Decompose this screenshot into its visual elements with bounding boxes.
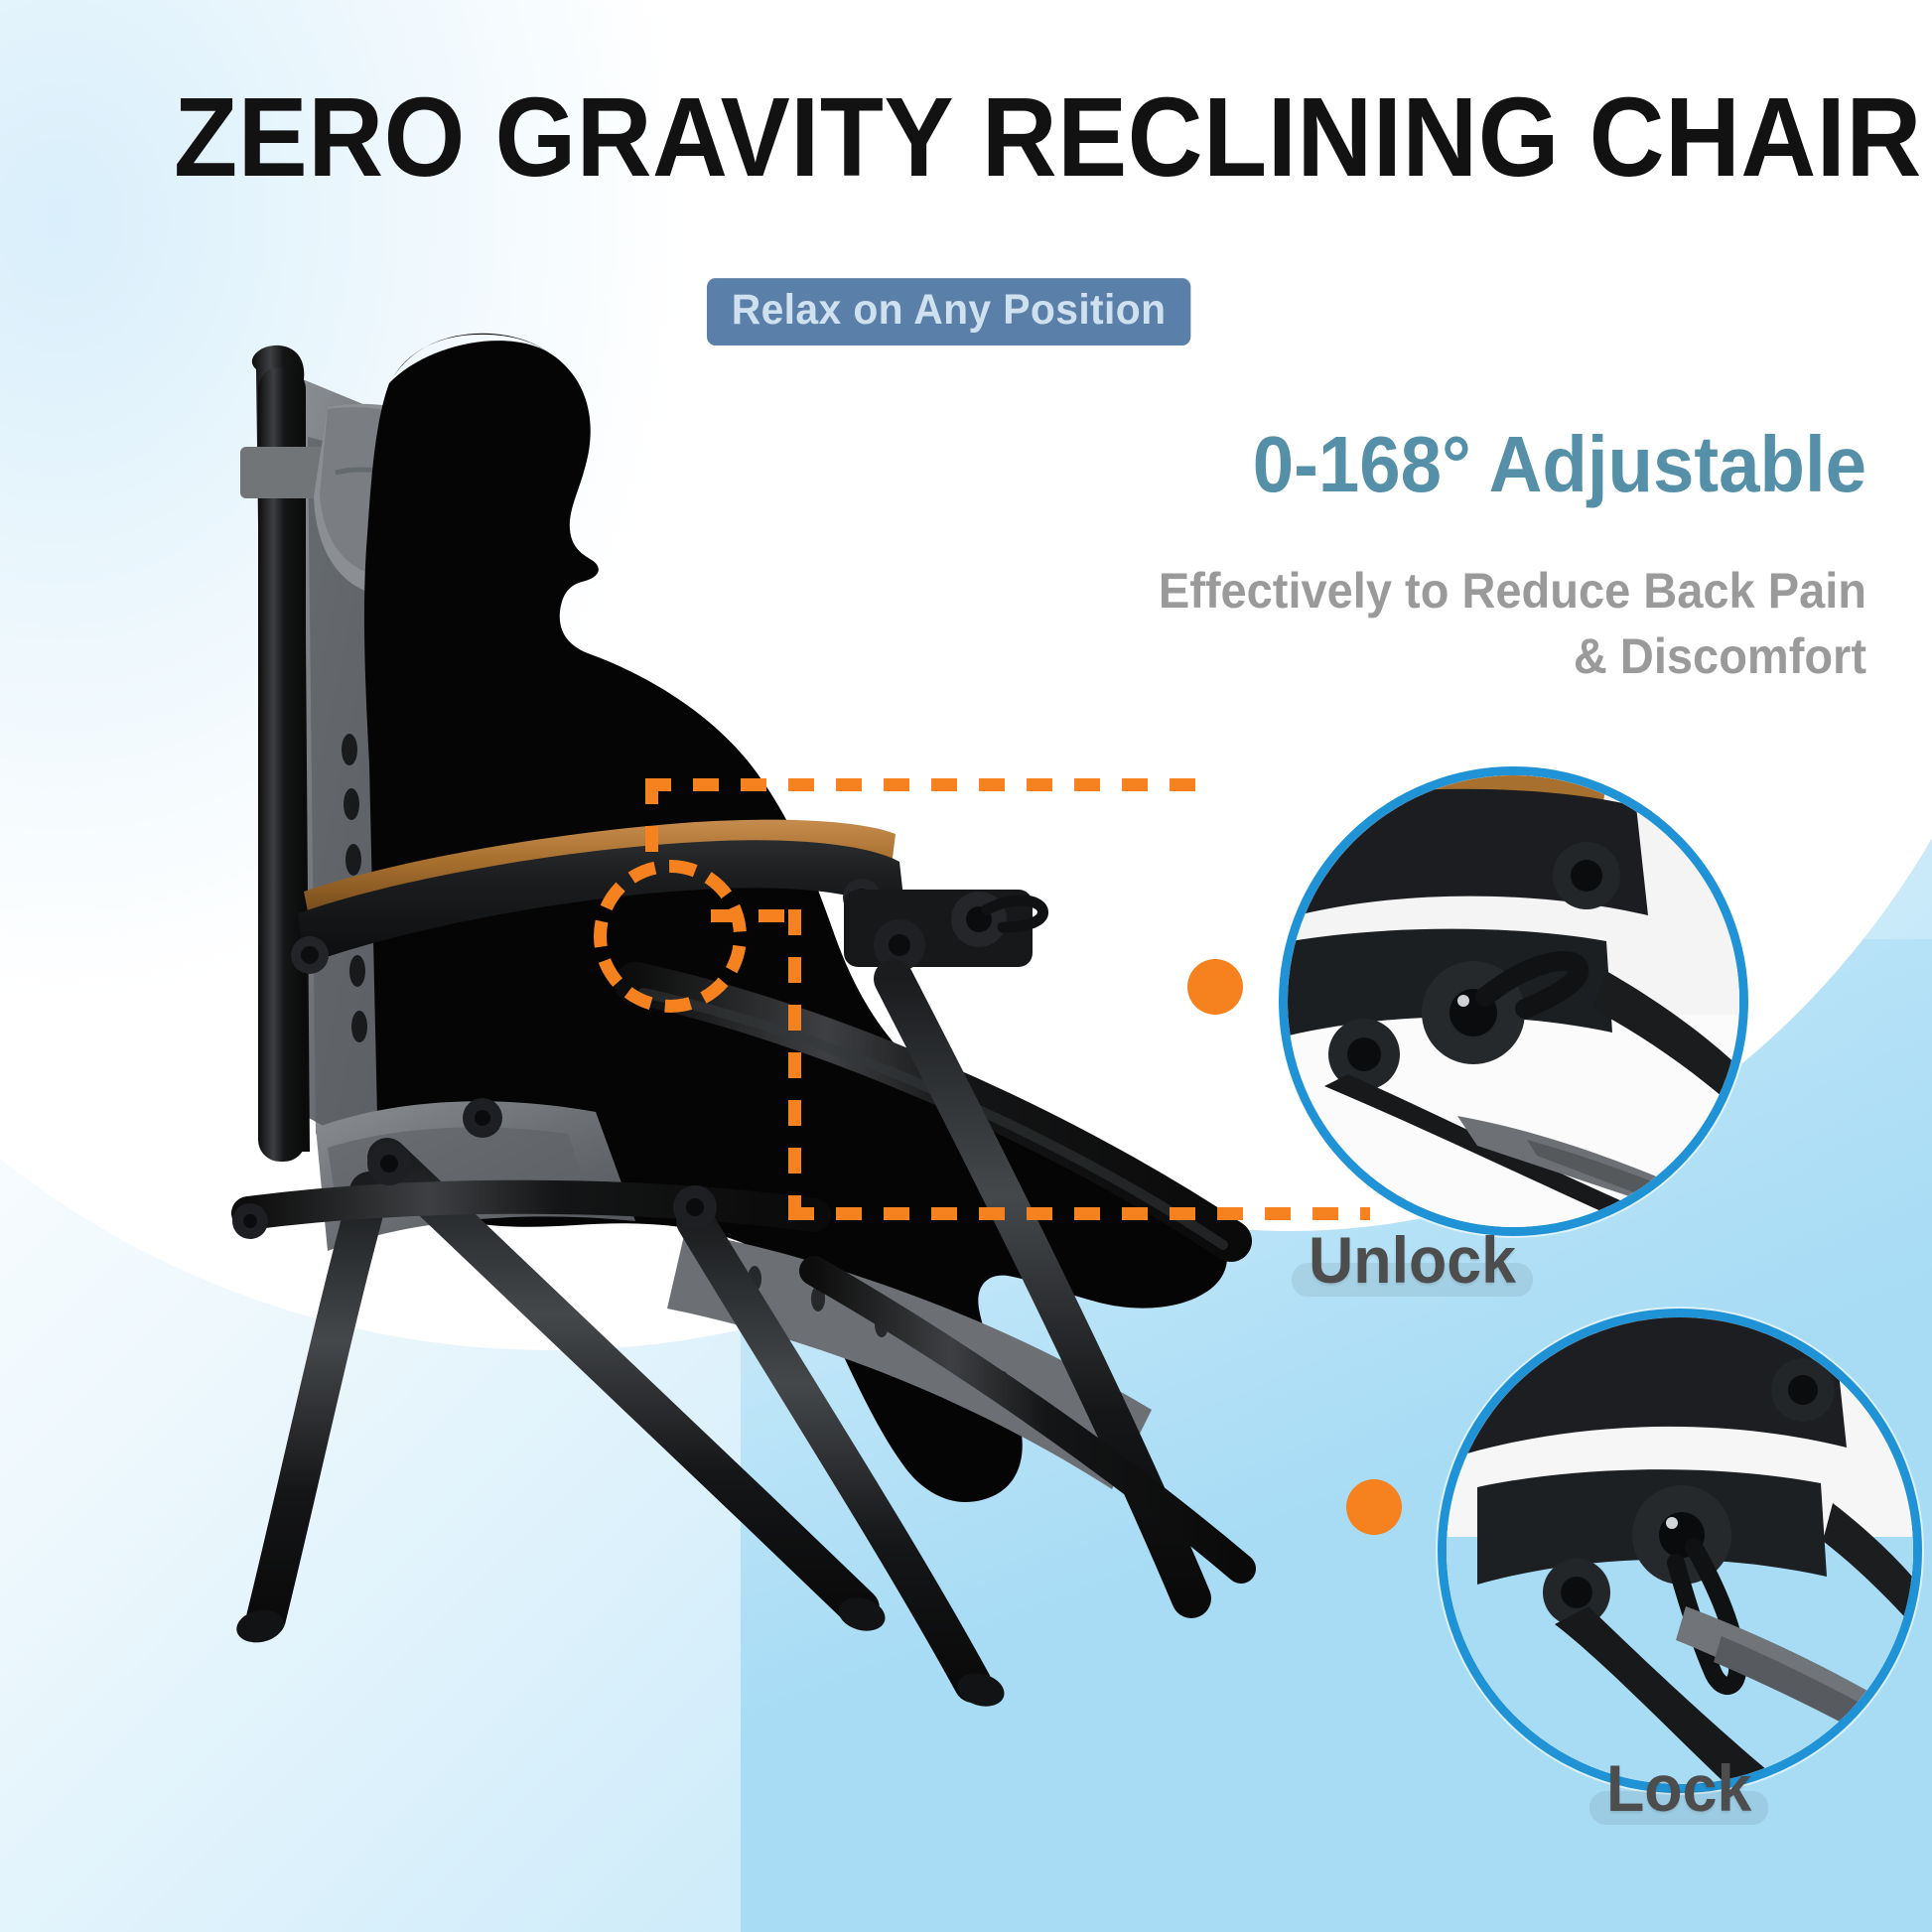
unlock-lever-icon (1279, 766, 1748, 1236)
feature-description: Effectively to Reduce Back Pain & Discom… (1158, 558, 1866, 689)
connector-segment-top-right (645, 778, 1207, 791)
armrest-highlight-ring (594, 860, 747, 1013)
infographic-canvas: Unlock (0, 0, 1932, 1932)
recline-lock-lever-hub (844, 890, 1043, 971)
feature-description-line-1: Effectively to Reduce Back (1159, 563, 1755, 619)
connector-segment-bottom-right (788, 1207, 1370, 1220)
connector-dot-unlock (1187, 959, 1243, 1015)
frame-foot-caps (233, 1592, 1008, 1712)
lock-lever-icon (1438, 1309, 1922, 1793)
connector-dot-lock (1346, 1479, 1402, 1535)
callout-label-lock: Lock (1606, 1755, 1751, 1821)
feature-headline: 0-168° Adjustable (1147, 425, 1866, 504)
callout-circle-lock[interactable] (1438, 1309, 1922, 1793)
connector-segment-up-left (645, 778, 658, 868)
connector-segment-mid-right (711, 909, 800, 922)
page-title: ZERO GRAVITY RECLINING CHAIR (174, 81, 1688, 194)
product-photo-chair-with-person (0, 298, 1390, 1932)
connector-segment-down (788, 909, 801, 1219)
callout-label-unlock: Unlock (1309, 1227, 1516, 1293)
callout-circle-unlock[interactable] (1279, 766, 1748, 1236)
subtitle-badge: Relax on Any Position (707, 278, 1190, 345)
